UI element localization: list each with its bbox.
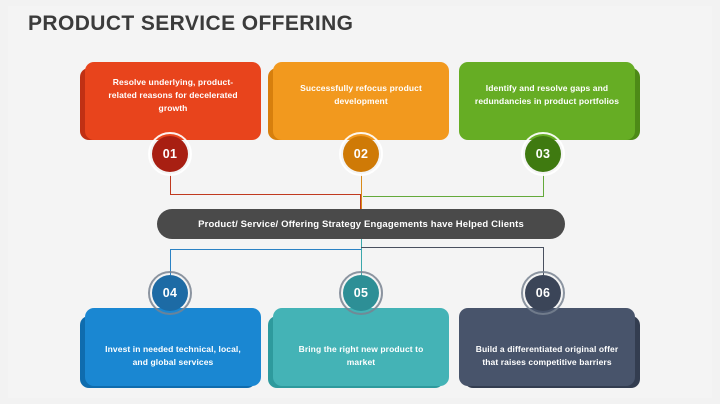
- center-banner[interactable]: Product/ Service/ Offering Strategy Enga…: [157, 209, 565, 239]
- card-01-face: Resolve underlying, product-related reas…: [85, 62, 261, 140]
- card-05-face: Bring the right new product to market: [273, 308, 449, 386]
- badge-02[interactable]: 02: [343, 136, 379, 172]
- badge-03[interactable]: 03: [525, 136, 561, 172]
- badge-06-number: 06: [536, 286, 551, 300]
- page-title: PRODUCT SERVICE OFFERING: [28, 12, 353, 36]
- connector-03-vertical: [543, 174, 544, 196]
- card-02-label: Successfully refocus product development: [273, 82, 449, 108]
- slide-canvas: PRODUCT SERVICE OFFERING Resolve underly…: [0, 0, 720, 404]
- card-04-label: Invest in needed technical, local, and g…: [85, 343, 261, 369]
- badge-06[interactable]: 06: [525, 275, 561, 311]
- badge-02-number: 02: [354, 147, 369, 161]
- card-05-label: Bring the right new product to market: [273, 343, 449, 369]
- center-banner-label: Product/ Service/ Offering Strategy Enga…: [198, 219, 524, 230]
- card-06-label: Build a differentiated original offer th…: [459, 343, 635, 369]
- card-03[interactable]: Identify and resolve gaps and redundanci…: [459, 62, 635, 140]
- badge-03-number: 03: [536, 147, 551, 161]
- connector-01-vertical: [170, 174, 171, 194]
- card-04-face: Invest in needed technical, local, and g…: [85, 308, 261, 386]
- card-03-face: Identify and resolve gaps and redundanci…: [459, 62, 635, 140]
- connector-04-horizontal: [170, 249, 362, 250]
- card-01[interactable]: Resolve underlying, product-related reas…: [85, 62, 261, 140]
- card-01-label: Resolve underlying, product-related reas…: [85, 76, 261, 115]
- connector-06-horizontal: [361, 247, 544, 248]
- card-06[interactable]: Build a differentiated original offer th…: [459, 308, 635, 386]
- badge-04-number: 04: [163, 286, 178, 300]
- badge-01-number: 01: [163, 147, 178, 161]
- card-02-face: Successfully refocus product development: [273, 62, 449, 140]
- connector-03-horizontal: [363, 196, 544, 197]
- card-03-label: Identify and resolve gaps and redundanci…: [459, 82, 635, 108]
- card-04[interactable]: Invest in needed technical, local, and g…: [85, 308, 261, 386]
- badge-05[interactable]: 05: [343, 275, 379, 311]
- badge-01[interactable]: 01: [152, 136, 188, 172]
- connector-02-vertical: [361, 174, 362, 210]
- connector-01-horizontal: [170, 194, 360, 195]
- card-05[interactable]: Bring the right new product to market: [273, 308, 449, 386]
- card-02[interactable]: Successfully refocus product development: [273, 62, 449, 140]
- badge-04[interactable]: 04: [152, 275, 188, 311]
- badge-05-number: 05: [354, 286, 369, 300]
- card-06-face: Build a differentiated original offer th…: [459, 308, 635, 386]
